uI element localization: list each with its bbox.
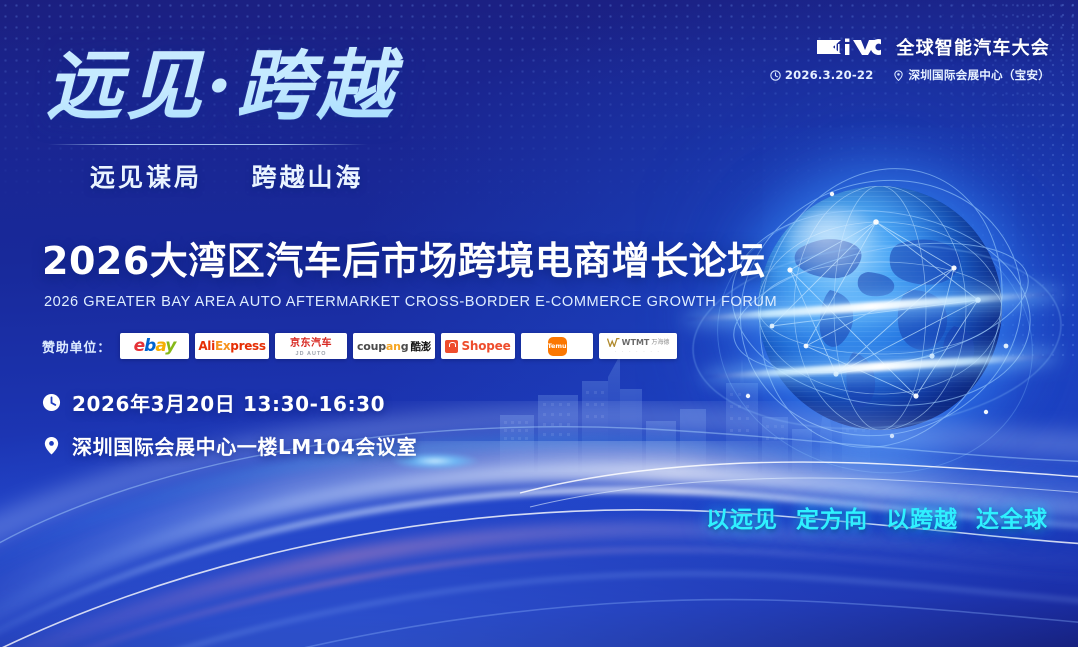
calligraphy-headline: 远见·跨越 bbox=[46, 34, 742, 138]
globe-continents bbox=[758, 186, 1002, 430]
header-date-text: 2026.3.20-22 bbox=[785, 68, 874, 82]
divider-line bbox=[48, 144, 368, 145]
wtmt-name: WTMT bbox=[622, 339, 650, 347]
wtmt-tagline: · · · · · · · bbox=[607, 350, 670, 354]
sponsor-logo-ebay[interactable]: ebay bbox=[120, 333, 189, 359]
globe-orbit-outer bbox=[692, 180, 1058, 502]
sponsor-logo-jd-auto[interactable]: 京东汽车 JD AUTO bbox=[275, 333, 347, 359]
globe-specular-highlight bbox=[786, 208, 882, 278]
forum-title-en: 2026 GREATER BAY AREA AUTO AFTERMARKET C… bbox=[44, 294, 742, 310]
coupang-cn: 酷澎 bbox=[410, 339, 431, 354]
jd-auto-wordmark: 京东汽车 JD AUTO bbox=[290, 334, 332, 357]
coupang-wordmark: coupang 酷澎 bbox=[357, 339, 431, 354]
shopee-bag-icon bbox=[445, 340, 458, 353]
clock-icon bbox=[42, 393, 61, 412]
wtmt-w-mark-icon bbox=[607, 338, 620, 347]
globe-latitude-lines bbox=[758, 186, 1002, 430]
network-globe-graphic bbox=[686, 150, 1076, 510]
hero-subtitle: 远见谋局 跨越山海 bbox=[90, 158, 742, 194]
hero-subtitle-left: 远见谋局 bbox=[90, 163, 202, 192]
globe-sphere bbox=[758, 186, 1002, 430]
sponsor-logo-wtmt[interactable]: WTMT 万海德 · · · · · · · bbox=[599, 333, 677, 359]
forum-title-cn: 2026大湾区汽车后市场跨境电商增长论坛 bbox=[42, 230, 742, 285]
jd-auto-en: JD AUTO bbox=[290, 352, 332, 357]
clock-icon bbox=[770, 70, 781, 81]
sponsor-logo-aliexpress[interactable]: AliExpress bbox=[195, 333, 269, 359]
conference-header: 全球智能汽车大会 2026.3.20-22 深圳国际会展中心（宝安） bbox=[750, 34, 1050, 83]
event-details: 2026年3月20日 13:30-16:30 深圳国际会展中心一楼LM104会议… bbox=[42, 388, 742, 460]
poster-content: 远见·跨越 远见谋局 跨越山海 2026大湾区汽车后市场跨境电商增长论坛 202… bbox=[42, 34, 742, 474]
sponsor-row: 赞助单位： ebay AliExpress 京东汽车 JD AUTO coupa… bbox=[42, 333, 742, 359]
event-time-text: 2026年3月20日 13:30-16:30 bbox=[72, 388, 385, 417]
event-place-text: 深圳国际会展中心一楼LM104会议室 bbox=[72, 431, 417, 460]
hero-subtitle-right: 跨越山海 bbox=[251, 163, 363, 192]
header-venue: 深圳国际会展中心（宝安） bbox=[893, 67, 1050, 83]
bottom-slogan: 以远见 定方向 以跨越 达全球 bbox=[706, 500, 1048, 534]
header-date: 2026.3.20-22 bbox=[770, 68, 874, 82]
wtmt-cn: 万海德 bbox=[651, 340, 669, 346]
location-pin-icon bbox=[893, 70, 904, 81]
shopee-wordmark: Shopee bbox=[445, 339, 510, 353]
sponsor-logo-coupang[interactable]: coupang 酷澎 bbox=[353, 333, 435, 359]
globe-network-mesh bbox=[686, 150, 1076, 510]
slogan-part-4: 达全球 bbox=[976, 500, 1048, 534]
event-poster: 全球智能汽车大会 2026.3.20-22 深圳国际会展中心（宝安） 远见·跨 bbox=[0, 0, 1078, 647]
sponsor-label: 赞助单位： bbox=[42, 337, 111, 356]
globe-reflection bbox=[782, 432, 982, 510]
slogan-part-3: 以跨越 bbox=[886, 500, 958, 534]
ebay-wordmark: ebay bbox=[134, 336, 176, 356]
temu-text: Temu bbox=[547, 343, 566, 350]
shopee-text: Shopee bbox=[461, 339, 510, 353]
jd-auto-cn: 京东汽车 bbox=[290, 338, 332, 349]
slogan-part-2: 定方向 bbox=[796, 500, 868, 534]
sponsor-logo-temu[interactable]: Temu bbox=[521, 333, 593, 359]
event-place-row: 深圳国际会展中心一楼LM104会议室 bbox=[42, 431, 742, 460]
header-venue-text: 深圳国际会展中心（宝安） bbox=[908, 67, 1050, 83]
location-pin-icon bbox=[42, 436, 61, 455]
conference-name: 全球智能汽车大会 bbox=[896, 34, 1050, 60]
calligraphy-text: 远见·跨越 bbox=[46, 34, 742, 138]
event-time-row: 2026年3月20日 13:30-16:30 bbox=[42, 388, 742, 417]
temu-badge-icon: Temu bbox=[548, 337, 567, 356]
globe-light-band-lower bbox=[704, 352, 1056, 382]
wtmt-wordmark: WTMT 万海德 · · · · · · · bbox=[607, 338, 670, 354]
slogan-part-1: 以远见 bbox=[706, 500, 778, 534]
sponsor-logo-shopee[interactable]: Shopee bbox=[441, 333, 515, 359]
aliexpress-wordmark: AliExpress bbox=[198, 339, 265, 353]
givc-logo-icon bbox=[815, 36, 887, 58]
